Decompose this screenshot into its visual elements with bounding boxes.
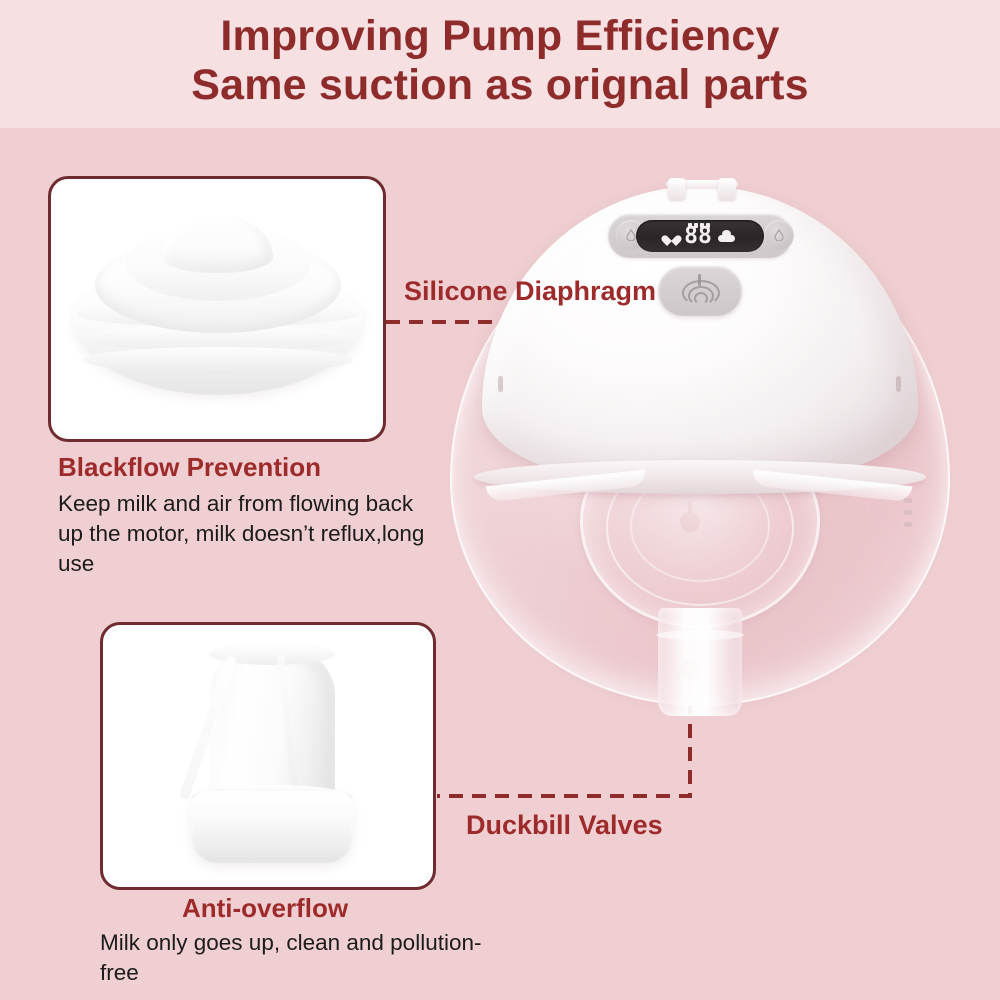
silicone-diaphragm-photo [73,215,363,405]
diaphragm-dome [161,215,273,273]
duckbill-base [191,791,353,863]
air-vent-1 [904,498,912,503]
caption-anti-overflow: Anti-overflow Milk only goes up, clean a… [100,893,500,988]
headline-line-1: Improving Pump Efficiency [0,12,1000,61]
droplet-plus-icon [771,229,787,241]
card-backflow-prevention [48,176,386,442]
infographic-stage: Improving Pump Efficiency Same suction a… [0,0,1000,1000]
mode-up-button[interactable] [764,220,794,250]
diaphragm-thread-3 [83,347,353,373]
caption-backflow-prevention: Blackflow Prevention Keep milk and air f… [58,452,438,579]
top-clip-right [718,178,736,200]
card-body-backflow: Keep milk and air from flowing back up t… [58,489,438,579]
valve-spout [658,608,742,716]
power-button[interactable] [658,266,742,316]
spout-ring [656,630,744,640]
callout-duckbill-valves: Duckbill Valves [466,810,663,841]
headline-line-2: Same suction as orignal parts [0,61,1000,110]
callout-silicone-diaphragm: Silicone Diaphragm [404,276,656,307]
heart-icon [665,230,678,242]
air-vent-2 [904,510,912,515]
side-notch-right [896,376,901,392]
breast-pump-illustration: 88 [430,178,970,718]
power-arc-inner [694,292,708,305]
power-stem [698,274,701,286]
card-anti-overflow [100,622,436,890]
card-title-backflow: Blackflow Prevention [58,452,438,483]
battery-indicator [688,223,710,228]
top-clip-left [668,178,686,200]
card-body-antioverflow: Milk only goes up, clean and pollution-f… [100,928,500,988]
page-title: Improving Pump Efficiency Same suction a… [0,12,1000,110]
side-notch-left [498,376,503,392]
duckbill-valve-photo [181,649,363,867]
cloud-icon [718,231,735,242]
card-title-antioverflow: Anti-overflow [100,893,500,924]
air-vent-3 [904,522,912,527]
lcd-display: 88 [636,220,764,252]
